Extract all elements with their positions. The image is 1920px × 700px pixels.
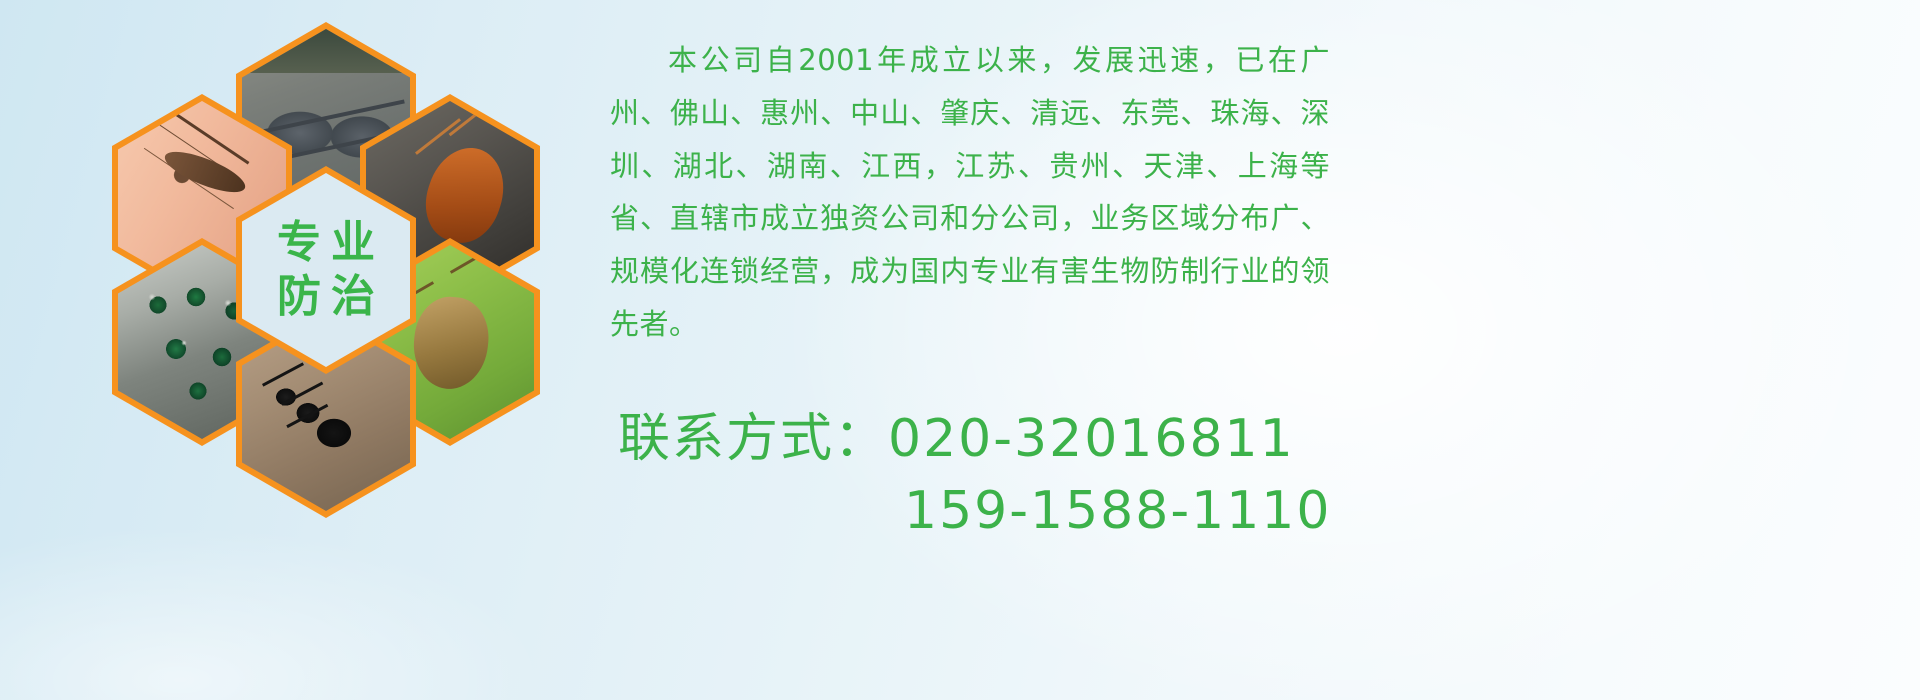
honeycomb-cluster: 专业 防治: [88, 8, 588, 568]
contact-label: 联系方式：: [618, 409, 888, 469]
slogan-line-2: 防治: [267, 270, 385, 324]
intro-paragraph: 本公司自2001年成立以来，发展迅速，已在广州、佛山、惠州、中山、肇庆、清远、东…: [610, 34, 1330, 351]
contact-phone-secondary[interactable]: 159-1588-1110: [618, 476, 1378, 548]
slogan-line-1: 专业: [267, 216, 385, 270]
hex-inner: 专业 防治: [242, 173, 410, 367]
banner-root: 专业 防治 本公司自2001年成立以来，发展迅速，已在广州、佛山、惠州、中山、肇…: [0, 0, 1920, 700]
contact-block: 联系方式：020-32016811 159-1588-1110: [618, 404, 1378, 548]
intro-copy-block: 本公司自2001年成立以来，发展迅速，已在广州、佛山、惠州、中山、肇庆、清远、东…: [610, 34, 1330, 351]
contact-primary-line[interactable]: 联系方式：020-32016811: [618, 404, 1378, 476]
contact-phone-primary[interactable]: 020-32016811: [888, 409, 1295, 469]
